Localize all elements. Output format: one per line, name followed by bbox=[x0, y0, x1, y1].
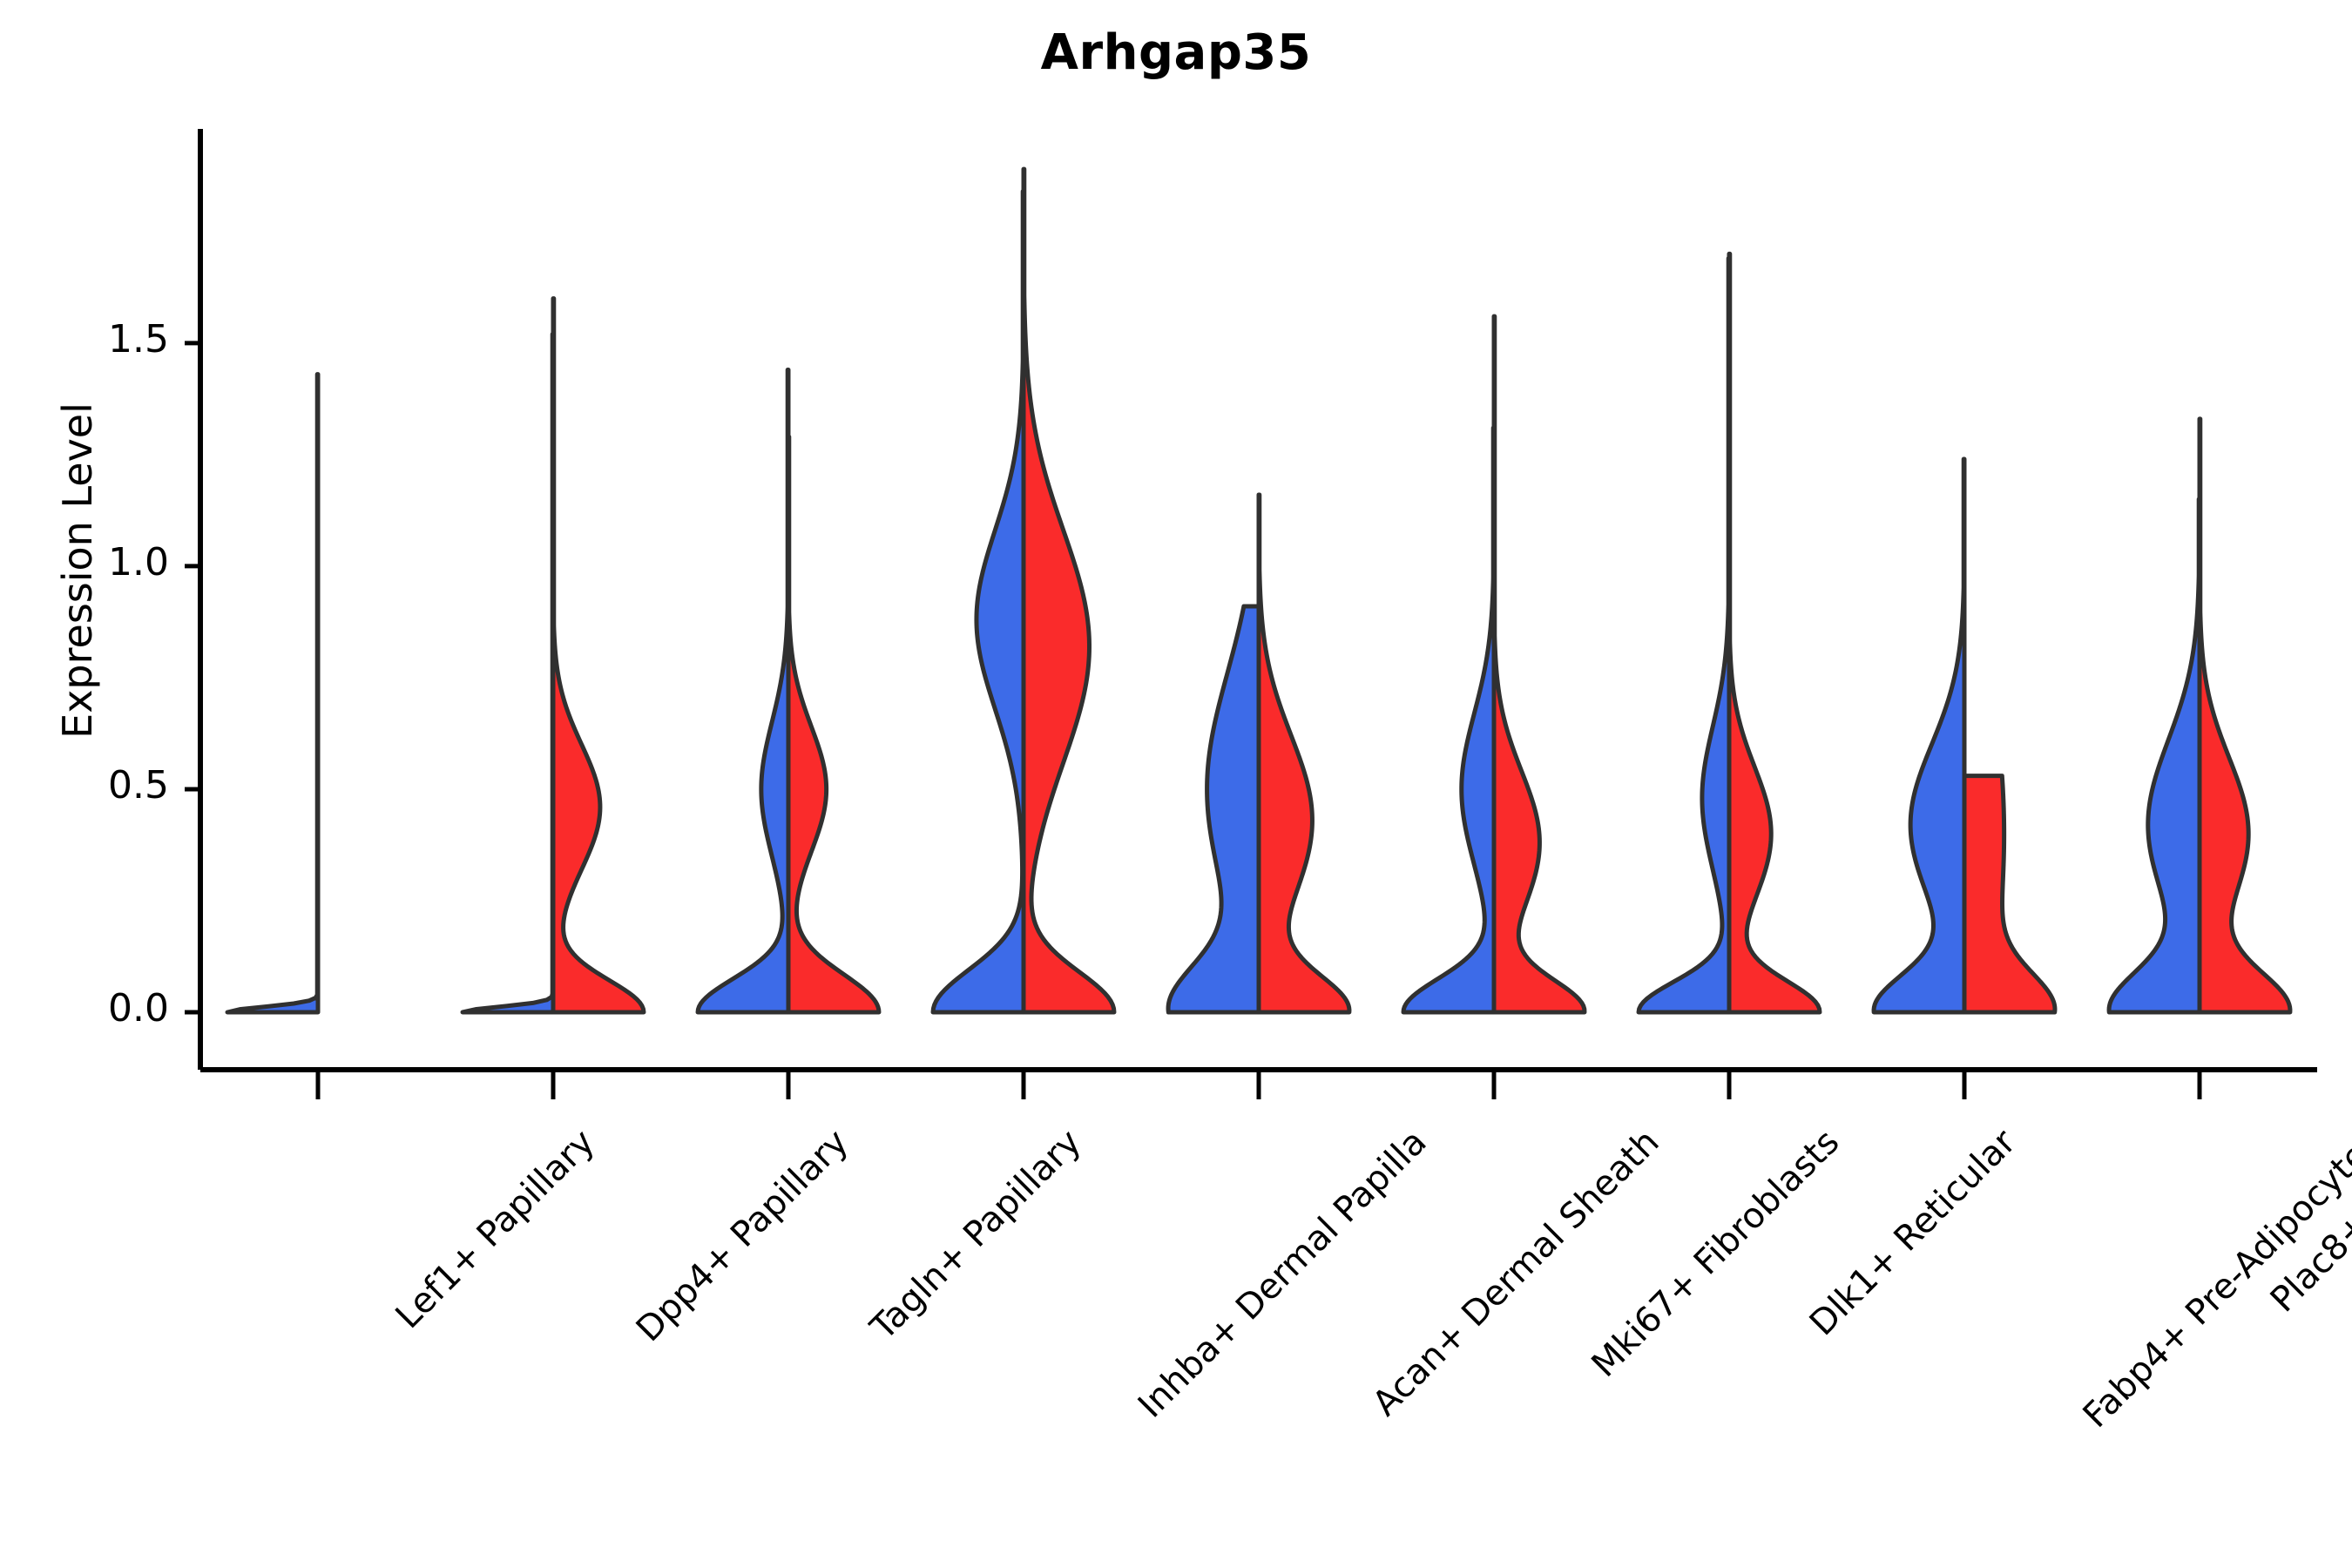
violin-half-left bbox=[1168, 606, 1259, 1012]
violin-plot-figure: Arhgap35 0.00.51.01.5 Lef1+ PapillaryDpp… bbox=[0, 0, 2352, 1568]
violin-half-left bbox=[933, 192, 1024, 1012]
violin-group bbox=[1168, 495, 1349, 1012]
violin-group bbox=[933, 169, 1114, 1012]
violin-half-left bbox=[2109, 499, 2200, 1012]
violin-half-right bbox=[1024, 169, 1114, 1012]
violin-half-right bbox=[2200, 419, 2290, 1012]
violin-half-right bbox=[553, 299, 644, 1012]
violin-group bbox=[1403, 316, 1585, 1012]
violin-half-right bbox=[1494, 316, 1585, 1012]
violin-half-right bbox=[1964, 776, 2055, 1012]
violin-group bbox=[1874, 459, 2055, 1012]
y-tick-label: 0.5 bbox=[0, 763, 169, 808]
violin-half-left bbox=[1639, 259, 1729, 1012]
violin-group bbox=[463, 299, 644, 1012]
y-tick-label: 0.0 bbox=[0, 986, 169, 1031]
violin-half-left bbox=[1874, 459, 1964, 1012]
violin-half-right bbox=[1729, 253, 1820, 1012]
violin-group bbox=[1639, 253, 1820, 1012]
violin-group bbox=[227, 375, 318, 1012]
y-tick-label: 1.5 bbox=[0, 317, 169, 362]
violin-half-right bbox=[1259, 495, 1349, 1012]
violin-layer bbox=[227, 169, 2290, 1012]
violin-half-left bbox=[698, 370, 788, 1012]
violin-group bbox=[698, 370, 879, 1012]
violin-half-left bbox=[227, 375, 318, 1012]
violin-group bbox=[2109, 419, 2290, 1012]
violin-half-left bbox=[1403, 428, 1494, 1012]
y-axis-label: Expression Level bbox=[54, 402, 101, 739]
violin-half-right bbox=[788, 436, 879, 1012]
plot-canvas bbox=[0, 0, 2352, 1568]
violin-half-left bbox=[463, 335, 553, 1012]
